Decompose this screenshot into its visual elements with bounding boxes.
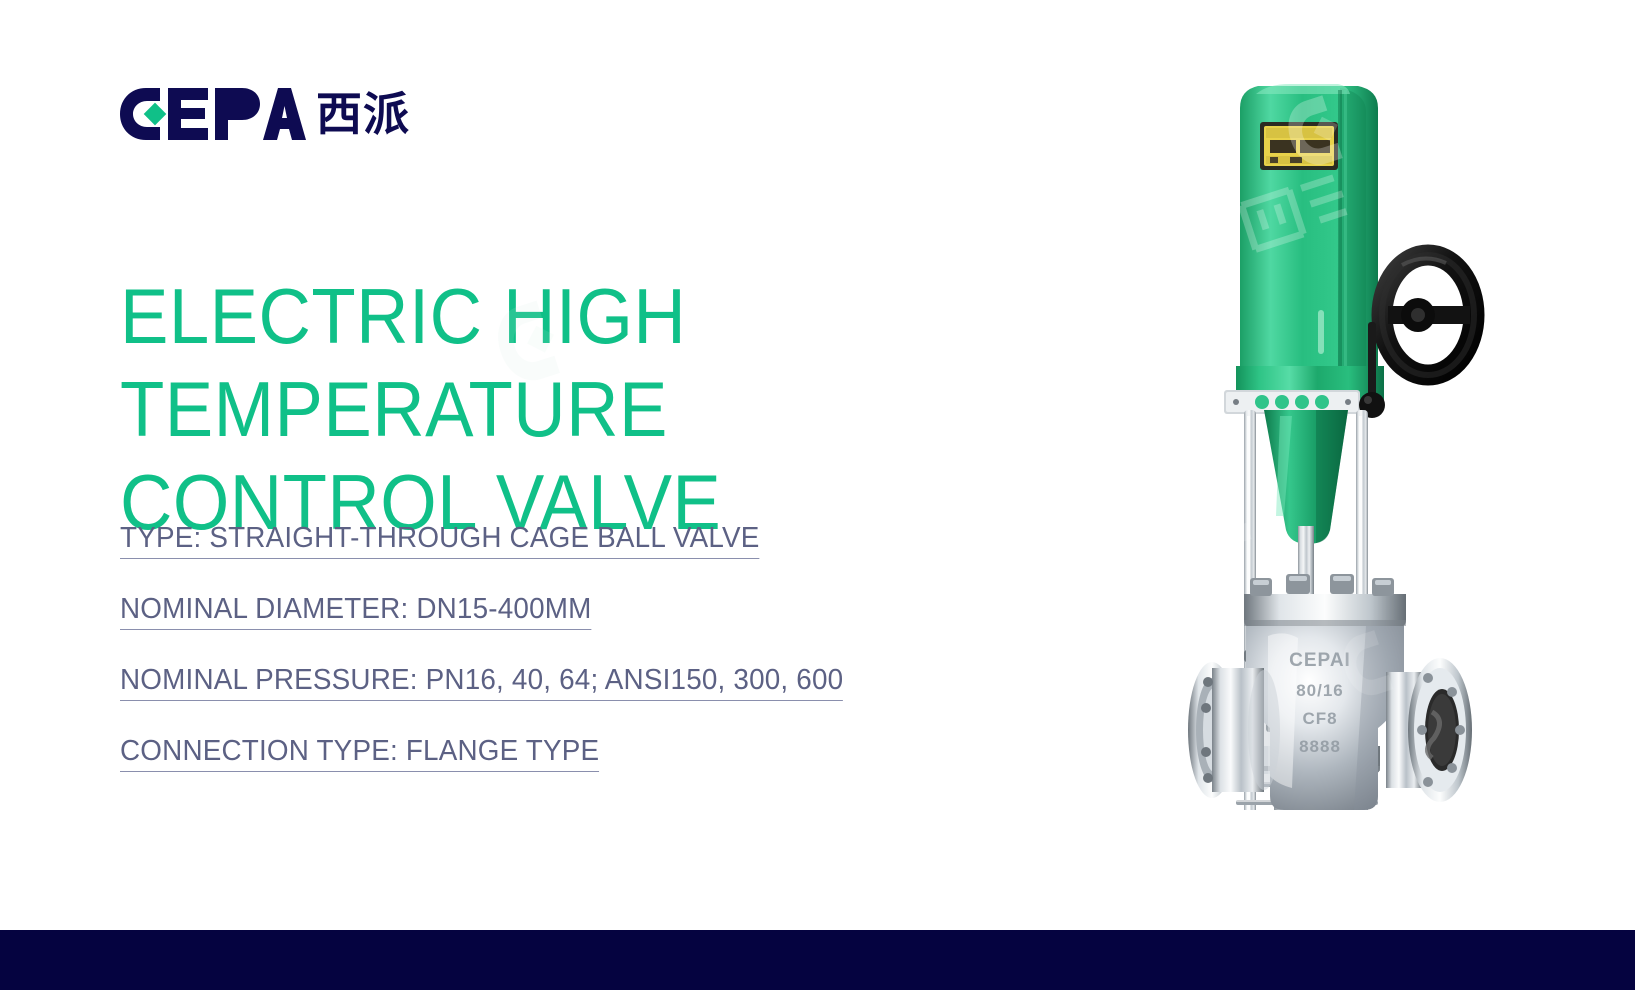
- page-title: ELECTRIC HIGH TEMPERATURE CONTROL VALVE: [120, 270, 1013, 549]
- svg-text:8888: 8888: [1299, 737, 1341, 756]
- svg-text:CEPAI: CEPAI: [1289, 650, 1351, 671]
- cepai-wordmark-icon: [120, 88, 306, 145]
- outlet-flange: [1386, 658, 1472, 802]
- spec-item-type: TYPE: STRAIGHT-THROUGH CAGE BALL VALVE: [120, 524, 760, 559]
- spec-list: TYPE: STRAIGHT-THROUGH CAGE BALL VALVE N…: [120, 524, 873, 772]
- inlet-flange: [1188, 662, 1280, 798]
- handwheel: [1382, 255, 1474, 375]
- svg-text:CF8: CF8: [1302, 709, 1337, 728]
- footer-bar: [0, 930, 1635, 990]
- bonnet-flange: [1244, 574, 1406, 628]
- brand-logo-chinese: 西派: [316, 91, 410, 137]
- brand-logo: 西派: [120, 88, 410, 144]
- slide-canvas: 西派 ELECTRIC HIGH TEMPERATURE CONTROL VAL…: [0, 0, 1635, 990]
- actuator-display-panel: [1260, 122, 1338, 170]
- spec-item-nominal-diameter: NOMINAL DIAMETER: DN15-400MM: [120, 595, 592, 630]
- svg-text:80/16: 80/16: [1296, 681, 1344, 700]
- product-image-valve-body: CEPAI 80/16 CF8 8888: [1140, 540, 1510, 840]
- spec-item-connection-type: CONNECTION TYPE: FLANGE TYPE: [120, 737, 599, 772]
- spec-item-nominal-pressure: NOMINAL PRESSURE: PN16, 40, 64; ANSI150,…: [120, 666, 843, 701]
